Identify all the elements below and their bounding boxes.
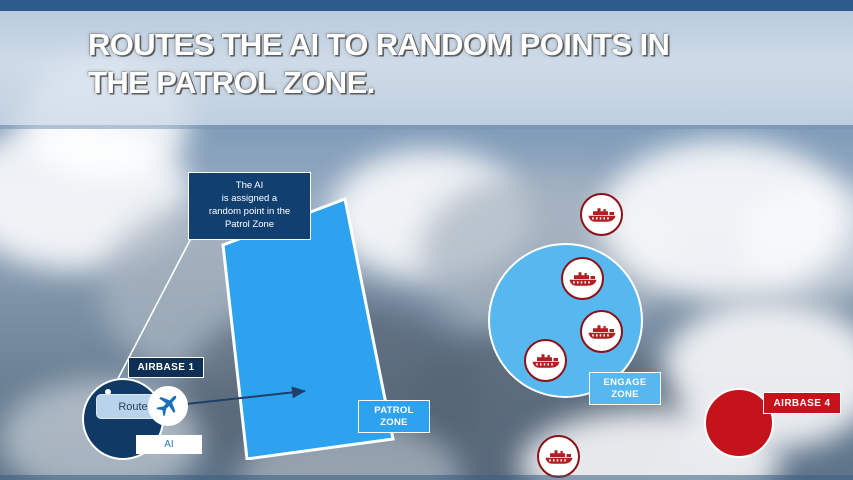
page-title-line-1: ROUTES THE AI TO RANDOM POINTS IN <box>88 26 788 64</box>
bottom-accent-bar <box>0 475 853 480</box>
warship-marker[interactable] <box>580 310 623 353</box>
callout-line-4: Patrol Zone <box>189 218 310 231</box>
page-title-line-2: THE PATROL ZONE. <box>88 64 788 102</box>
patrol-zone-label-line-2: ZONE <box>380 417 408 429</box>
header-band-divider <box>0 125 853 129</box>
callout-line-3: random point in the <box>189 205 310 218</box>
callout-line-1: The AI <box>189 179 310 192</box>
top-accent-bar <box>0 0 853 11</box>
callout-line-2: is assigned a <box>189 192 310 205</box>
warship-marker[interactable] <box>524 339 567 382</box>
engage-zone-label-line-2: ZONE <box>611 389 639 401</box>
airbase-4-label[interactable]: AIRBASE 4 <box>763 392 841 414</box>
ai-label[interactable]: AI <box>136 435 202 454</box>
page-title: ROUTES THE AI TO RANDOM POINTS IN THE PA… <box>88 26 788 102</box>
presentation-slide: ROUTES THE AI TO RANDOM POINTS IN THE PA… <box>0 0 853 480</box>
jet-fighter-icon[interactable] <box>148 386 188 426</box>
warship-marker[interactable] <box>580 193 623 236</box>
warship-icon <box>544 447 574 467</box>
callout-box: The AI is assigned a random point in the… <box>188 172 311 240</box>
warship-icon <box>587 205 617 225</box>
patrol-zone-label[interactable]: PATROL ZONE <box>358 400 430 433</box>
airbase-1-label[interactable]: AIRBASE 1 <box>128 357 204 378</box>
warship-icon <box>587 322 617 342</box>
warship-icon <box>568 269 598 289</box>
engage-zone-label-line-1: ENGAGE <box>604 377 647 389</box>
warship-marker[interactable] <box>537 435 580 478</box>
warship-marker[interactable] <box>561 257 604 300</box>
patrol-zone-label-line-1: PATROL <box>374 405 413 417</box>
engage-zone-label[interactable]: ENGAGE ZONE <box>589 372 661 405</box>
jet-fighter-glyph <box>154 392 182 420</box>
warship-icon <box>531 351 561 371</box>
